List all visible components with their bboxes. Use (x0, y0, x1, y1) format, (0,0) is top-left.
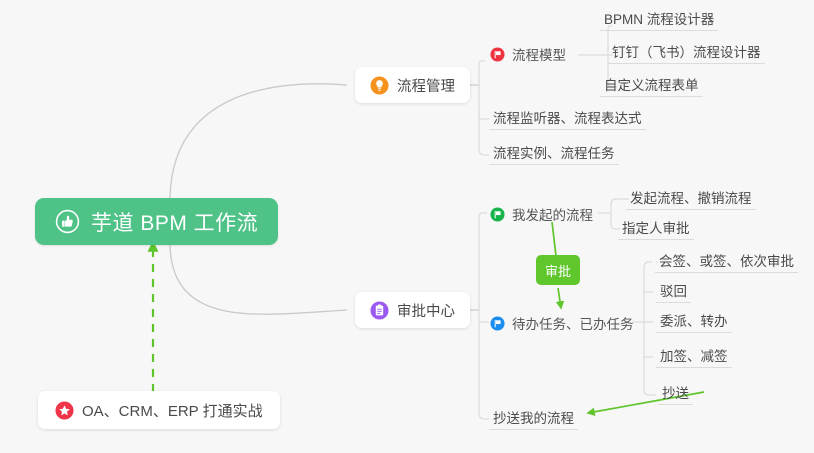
branch-label: 审批中心 (397, 300, 455, 321)
leaf-listener-expression[interactable]: 流程监听器、流程表达式 (489, 108, 646, 130)
leaf-instance-task[interactable]: 流程实例、流程任务 (489, 143, 619, 165)
leaf-start-cancel-process[interactable]: 发起流程、撤销流程 (626, 188, 756, 210)
node-todo-done-tasks[interactable]: 待办任务、已办任务 (490, 313, 634, 333)
lightbulb-icon (370, 76, 389, 95)
leaf-cc[interactable]: 抄送 (658, 383, 693, 405)
thumbs-up-icon (55, 209, 80, 234)
leaf-cc-to-me[interactable]: 抄送我的流程 (489, 408, 578, 430)
leaf-label: 流程实例、流程任务 (493, 146, 615, 161)
leaf-label: 抄送 (662, 386, 689, 401)
integration-note-label: OA、CRM、ERP 打通实战 (82, 400, 263, 421)
leaf-label: 委派、转办 (660, 314, 728, 329)
leaf-add-remove-sign[interactable]: 加签、减签 (656, 346, 732, 368)
root-label: 芋道 BPM 工作流 (91, 207, 258, 237)
arrow-initiated-to-todo-bottom (558, 288, 561, 308)
leaf-label: 加签、减签 (660, 349, 728, 364)
leaf-label: 流程监听器、流程表达式 (493, 111, 642, 126)
approval-badge[interactable]: 审批 (536, 255, 580, 285)
leaf-dingtalk-feishu-designer[interactable]: 钉钉（飞书）流程设计器 (608, 42, 765, 64)
node-label: 流程模型 (512, 44, 566, 64)
node-label: 我发起的流程 (512, 204, 593, 224)
clipboard-icon (370, 301, 389, 320)
branch-approval-center[interactable]: 审批中心 (355, 292, 470, 328)
leaf-custom-process-form[interactable]: 自定义流程表单 (600, 75, 703, 97)
flag-icon (490, 207, 505, 222)
leaf-label: 抄送我的流程 (493, 411, 574, 426)
wire-ac-bracket (479, 213, 489, 419)
leaf-label: 发起流程、撤销流程 (630, 191, 752, 206)
root-node[interactable]: 芋道 BPM 工作流 (35, 198, 278, 245)
arrow-initiated-to-todo-top (552, 222, 556, 256)
branch-process-management[interactable]: 流程管理 (355, 67, 470, 103)
badge-label: 审批 (545, 261, 571, 280)
node-my-initiated[interactable]: 我发起的流程 (490, 204, 593, 224)
leaf-reject[interactable]: 驳回 (656, 281, 691, 303)
node-process-model[interactable]: 流程模型 (490, 44, 566, 64)
leaf-delegate-transfer[interactable]: 委派、转办 (656, 311, 732, 333)
wire-todo-bracket (644, 262, 656, 395)
mindmap-canvas: 芋道 BPM 工作流 流程管理 流程模型 BPMN 流程设计器 钉钉（飞书 (0, 0, 814, 453)
leaf-label: 会签、或签、依次审批 (659, 254, 794, 269)
wire-root-to-process-management (170, 84, 347, 198)
branch-label: 流程管理 (397, 75, 455, 96)
wire-root-to-approval-center (170, 245, 347, 314)
leaf-bpmn-designer[interactable]: BPMN 流程设计器 (600, 9, 718, 31)
leaf-label: 驳回 (660, 284, 687, 299)
star-icon (55, 401, 74, 420)
flag-icon (490, 47, 505, 62)
flag-icon (490, 316, 505, 331)
node-label: 待办任务、已办任务 (512, 313, 634, 333)
leaf-label: 自定义流程表单 (604, 78, 699, 93)
leaf-label: 钉钉（飞书）流程设计器 (612, 45, 761, 60)
leaf-label: 指定人审批 (622, 221, 690, 236)
integration-note-node[interactable]: OA、CRM、ERP 打通实战 (38, 391, 280, 429)
wire-pm-bracket (479, 61, 489, 155)
leaf-label: BPMN 流程设计器 (604, 12, 714, 27)
leaf-assignee-approval[interactable]: 指定人审批 (618, 218, 694, 240)
leaf-countersign[interactable]: 会签、或签、依次审批 (655, 251, 798, 273)
